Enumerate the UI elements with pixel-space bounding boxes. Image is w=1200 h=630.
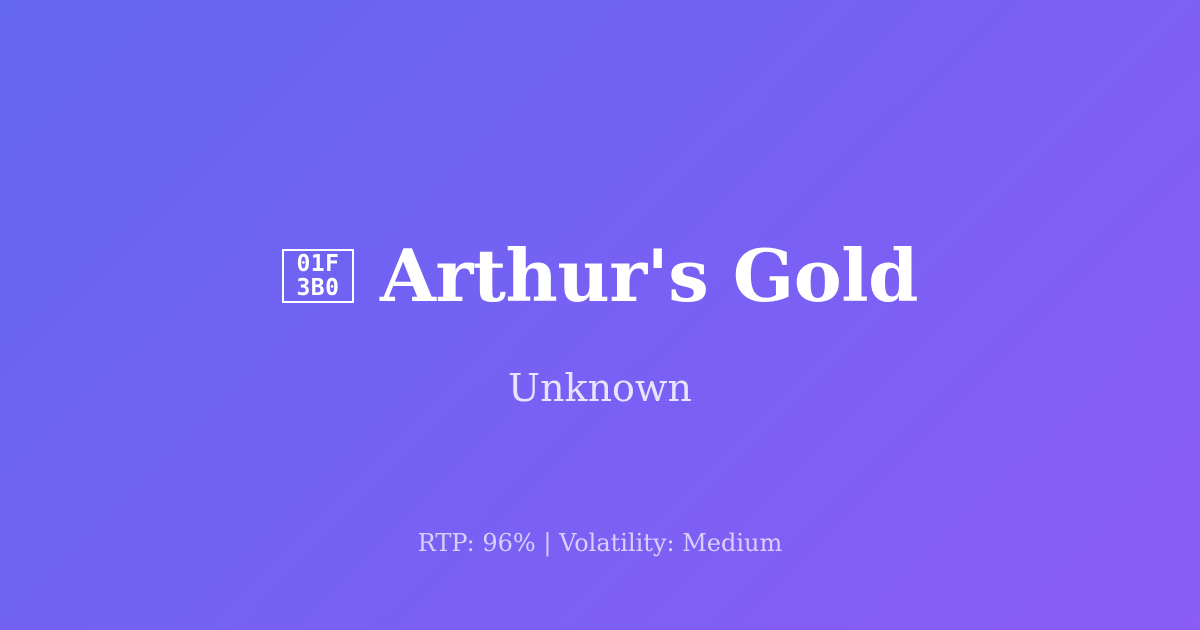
game-provider: Unknown	[0, 365, 1200, 411]
game-meta-line: RTP: 96% | Volatility: Medium	[0, 527, 1200, 559]
tofu-codepoint-line-1: 01F	[296, 252, 339, 276]
game-title: Arthur's Gold	[380, 228, 918, 324]
title-row: 01F 3B0 Arthur's Gold	[0, 228, 1200, 324]
game-og-card: 01F 3B0 Arthur's Gold Unknown RTP: 96% |…	[0, 0, 1200, 630]
tofu-codepoint-line-2: 3B0	[296, 276, 339, 300]
slot-machine-icon: 01F 3B0	[282, 249, 354, 303]
